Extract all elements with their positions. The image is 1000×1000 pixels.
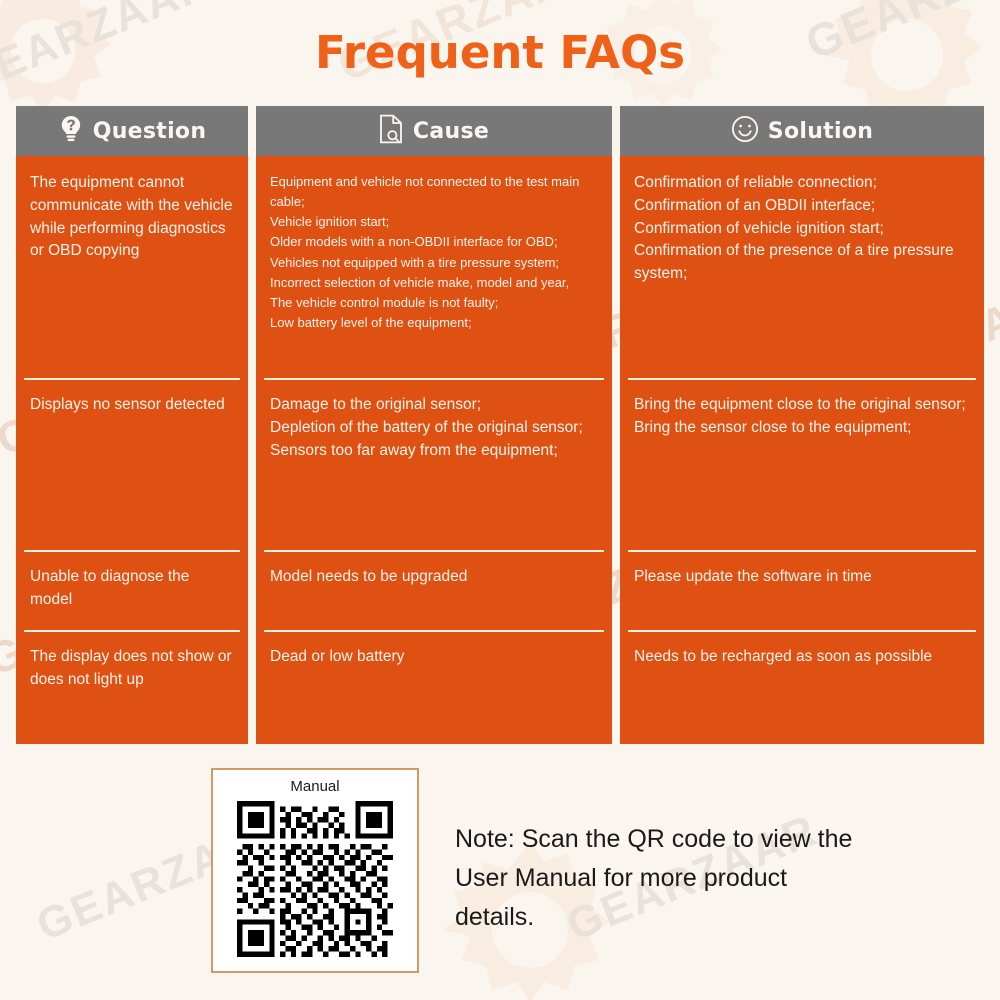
column-header-cause: Cause [256,106,612,156]
table-cell-question: The display does not show or does not li… [16,630,248,744]
column-solution: Solution Confirmation of reliable connec… [620,106,984,744]
cell-text: Unable to diagnose the model [30,566,234,612]
manual-qr-card[interactable]: Manual [211,768,419,973]
cell-text-line: Model needs to be upgraded [270,566,598,589]
cell-text-line: Confirmation of vehicle ignition start; [634,218,970,241]
column-body-question: The equipment cannot communicate with th… [16,156,248,744]
column-header-solution: Solution [620,106,984,156]
column-header-label: Cause [413,119,489,144]
column-body-solution: Confirmation of reliable connection; Con… [620,156,984,744]
footer-section: Manual [0,768,1000,973]
table-cell-question: The equipment cannot communicate with th… [16,156,248,378]
column-header-label: Question [93,119,207,144]
column-cause: Cause Equipment and vehicle not connecte… [256,106,612,744]
table-cell-solution: Confirmation of reliable connection; Con… [620,156,984,378]
column-header-question: Question [16,106,248,156]
table-cell-solution: Bring the equipment close to the origina… [620,378,984,550]
faq-page: GEARZAAR GEARZAAR GEARZAAR GEARZAAR GEAR… [0,0,1000,1000]
cell-text-line: Dead or low battery [270,646,598,669]
cell-text-line: Damage to the original sensor; [270,394,598,417]
table-cell-question: Unable to diagnose the model [16,550,248,630]
cell-text-line: Older models with a non-OBDII interface … [270,232,598,252]
cell-text-line: Bring the equipment close to the origina… [634,394,970,417]
cell-text-line: Confirmation of reliable connection; [634,172,970,195]
cell-text-line: Low battery level of the equipment; [270,313,598,333]
column-question: Question The equipment cannot communicat… [16,106,248,744]
cell-text-line: Confirmation of an OBDII interface; [634,195,970,218]
cell-text-line: Needs to be recharged as soon as possibl… [634,646,970,669]
table-cell-cause: Model needs to be upgraded [256,550,612,630]
document-search-icon [379,114,404,149]
cell-text-line: Vehicle ignition start; [270,212,598,232]
cell-text-line: Depletion of the battery of the original… [270,417,598,440]
qr-card-title: Manual [223,778,407,795]
cell-text-line: Bring the sensor close to the equipment; [634,417,970,440]
cell-text-line: Please update the software in time [634,566,970,589]
cell-text: Displays no sensor detected [30,394,234,417]
qr-code[interactable] [237,801,393,957]
column-body-cause: Equipment and vehicle not connected to t… [256,156,612,744]
column-header-label: Solution [768,119,873,144]
cell-text-line: Incorrect selection of vehicle make, mod… [270,273,598,293]
cell-text-line: Sensors too far away from the equipment; [270,440,598,463]
cell-text: The display does not show or does not li… [30,646,234,692]
cell-text-line: Equipment and vehicle not connected to t… [270,172,598,212]
lightbulb-question-icon [58,115,84,148]
table-cell-cause: Equipment and vehicle not connected to t… [256,156,612,378]
table-cell-solution: Needs to be recharged as soon as possibl… [620,630,984,744]
table-cell-solution: Please update the software in time [620,550,984,630]
cell-text-line: Vehicles not equipped with a tire pressu… [270,253,598,273]
table-cell-cause: Damage to the original sensor; Depletion… [256,378,612,550]
cell-text: The equipment cannot communicate with th… [30,172,234,263]
qr-note-text: Note: Scan the QR code to view the User … [455,820,855,936]
cell-text-line: Confirmation of the presence of a tire p… [634,240,970,286]
cell-text-line: The vehicle control module is not faulty… [270,293,598,313]
table-cell-cause: Dead or low battery [256,630,612,744]
smiley-face-icon [731,115,759,148]
table-cell-question: Displays no sensor detected [16,378,248,550]
page-title: Frequent FAQs [0,26,1000,79]
faq-table: Question The equipment cannot communicat… [16,106,984,744]
